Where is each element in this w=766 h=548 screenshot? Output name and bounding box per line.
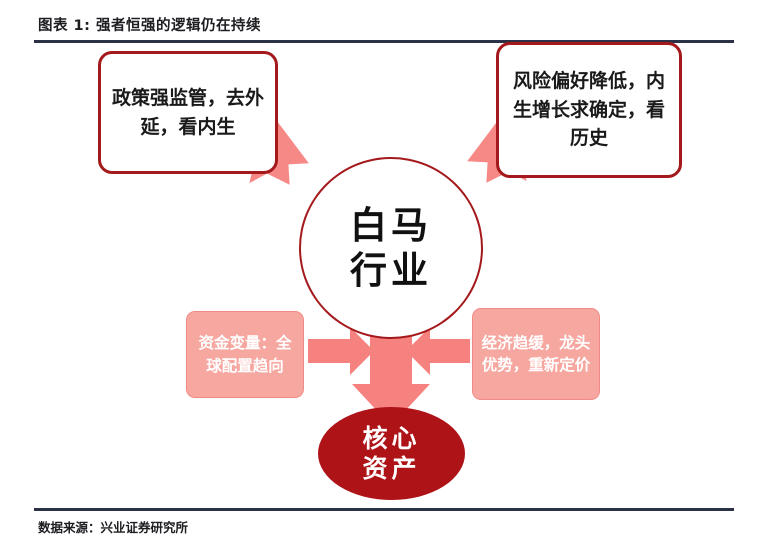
callout-risk-appetite-box[interactable]: 风险偏好降低，内生增长求确定，看历史 <box>496 42 682 178</box>
driver-capital-flow-text: 资金变量：全球配置趋向 <box>193 332 297 377</box>
outcome-node-core-assets[interactable]: 核心 资产 <box>318 407 465 500</box>
figure-title: 图表 1: 强者恒强的逻辑仍在持续 <box>38 14 261 35</box>
diagram-canvas: 政策强监管，去外延，看内生 风险偏好降低，内生增长求确定，看历史 白马 行业 资… <box>0 44 766 506</box>
figure-source: 数据来源：兴业证券研究所 <box>38 517 188 536</box>
footer-divider <box>34 508 734 511</box>
driver-economy-box[interactable]: 经济趋缓，龙头优势，重新定价 <box>472 308 600 400</box>
callout-risk-appetite-text: 风险偏好降低，内生增长求确定，看历史 <box>509 67 669 153</box>
driver-capital-flow-box[interactable]: 资金变量：全球配置趋向 <box>186 311 304 398</box>
callout-policy-text: 政策强监管，去外延，看内生 <box>111 84 265 141</box>
driver-economy-text: 经济趋缓，龙头优势，重新定价 <box>479 332 593 377</box>
figure-root: 图表 1: 强者恒强的逻辑仍在持续 <box>0 0 766 548</box>
center-node-line-2: 行业 <box>350 248 432 293</box>
center-node-line-1: 白马 <box>350 203 432 248</box>
callout-policy-box[interactable]: 政策强监管，去外延，看内生 <box>98 51 278 174</box>
center-node-baima-industry[interactable]: 白马 行业 <box>299 157 483 339</box>
outcome-node-line-1: 核心 <box>362 424 420 454</box>
outcome-node-line-2: 资产 <box>362 454 420 484</box>
